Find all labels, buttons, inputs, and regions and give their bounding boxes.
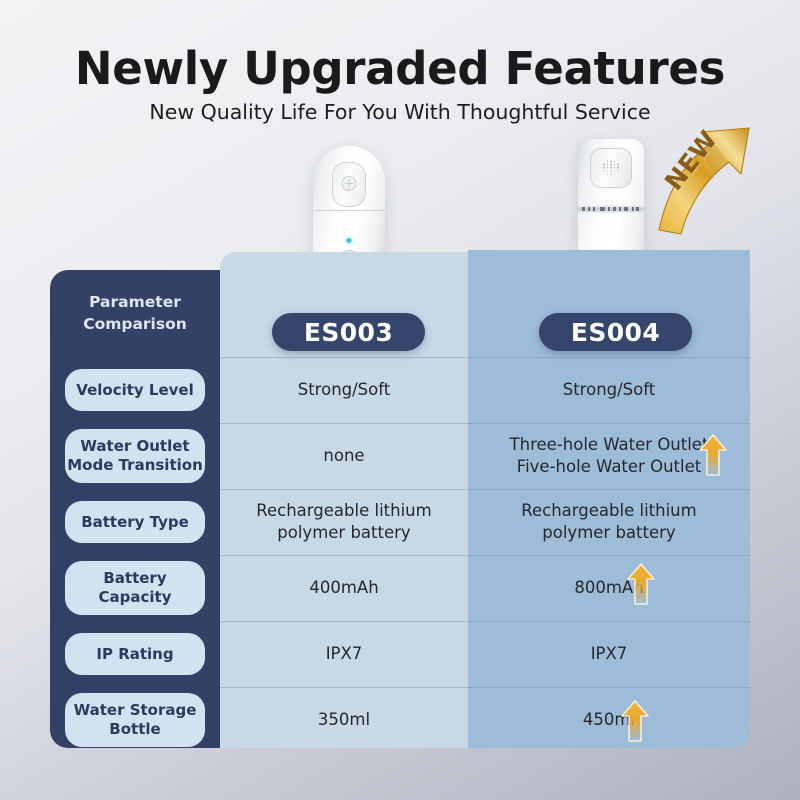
cell-value: Rechargeable lithiumpolymer battery (256, 500, 431, 544)
cell-value: IPX7 (326, 643, 363, 665)
cell-value: Three-hole Water OutletFive-hole Water O… (510, 434, 709, 478)
cell-es004-battery-type: Rechargeable lithiumpolymer battery (468, 489, 750, 555)
row-label-text: Water OutletMode Transition (67, 437, 203, 475)
row-label-text: Battery Type (81, 513, 189, 532)
cell-value: 350ml (318, 709, 370, 731)
cell-value: Rechargeable lithiumpolymer battery (521, 500, 696, 544)
row-label-text: Water StorageBottle (74, 701, 197, 739)
upgrade-arrow-icon (620, 699, 650, 743)
row-label-text: IP Rating (96, 645, 173, 664)
up-arrow-icon (698, 433, 728, 477)
cell-es004-battery-capacity: 800mAh (468, 555, 750, 621)
cell-value: Strong/Soft (563, 379, 656, 401)
up-arrow-icon (626, 562, 656, 606)
row-label-velocity-level[interactable]: Velocity Level (65, 369, 205, 411)
table-header-parameter: Parameter Comparison (50, 270, 220, 357)
device-led-indicator (347, 238, 352, 243)
product-badge-es004[interactable]: ES004 (539, 313, 692, 351)
cell-value: none (323, 445, 364, 467)
cell-es003-battery-type: Rechargeable lithiumpolymer battery (220, 489, 468, 555)
row-label-battery-capacity[interactable]: BatteryCapacity (65, 561, 205, 615)
new-badge: NEW (645, 126, 757, 236)
row-label-water-outlet-mode-transition[interactable]: Water OutletMode Transition (65, 429, 205, 483)
device-button-icon (342, 176, 357, 191)
row-label-text: BatteryCapacity (99, 569, 172, 607)
page-subtitle: New Quality Life For You With Thoughtful… (0, 100, 800, 124)
up-arrow-icon (620, 699, 650, 743)
comparison-table: Parameter Comparison ES003 ES004 Velocit… (50, 250, 750, 748)
device-seam (315, 210, 383, 211)
cell-es004-ip-rating: IPX7 (468, 621, 750, 687)
cell-value: Strong/Soft (298, 379, 391, 401)
cell-value: 400mAh (309, 577, 378, 599)
infographic-canvas: Newly Upgraded Features New Quality Life… (0, 0, 800, 800)
cell-es003-velocity-level: Strong/Soft (220, 357, 468, 423)
upgrade-arrow-icon (626, 562, 656, 606)
header-line-1: Parameter (89, 293, 181, 311)
product-badge-es003[interactable]: ES003 (272, 313, 425, 351)
cell-value: IPX7 (591, 643, 628, 665)
row-label-water-storage-bottle[interactable]: Water StorageBottle (65, 693, 205, 747)
cell-es004-velocity-level: Strong/Soft (468, 357, 750, 423)
cell-es004-water-storage-bottle: 450ml (468, 687, 750, 753)
row-label-text: Velocity Level (76, 381, 193, 400)
device-band (578, 205, 644, 213)
device-cap (590, 148, 632, 188)
cell-es003-water-outlet-mode-transition: none (220, 423, 468, 489)
cell-es003-battery-capacity: 400mAh (220, 555, 468, 621)
row-label-ip-rating[interactable]: IP Rating (65, 633, 205, 675)
upgrade-arrow-icon (698, 433, 728, 477)
cell-es003-ip-rating: IPX7 (220, 621, 468, 687)
page-title: Newly Upgraded Features (0, 42, 800, 95)
header-line-2: Comparison (83, 315, 187, 333)
cell-es003-water-storage-bottle: 350ml (220, 687, 468, 753)
device-grille-icon (603, 161, 619, 176)
device-cap (332, 162, 366, 207)
row-label-battery-type[interactable]: Battery Type (65, 501, 205, 543)
